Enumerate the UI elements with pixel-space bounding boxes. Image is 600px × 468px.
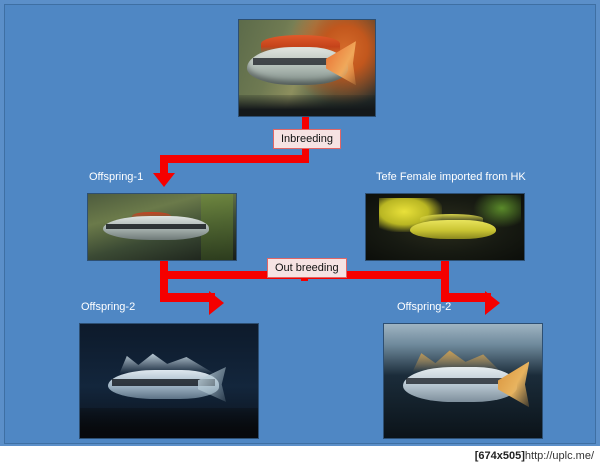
parent-photo-substrate — [239, 95, 375, 116]
photo-offspring-2-left — [79, 323, 259, 439]
photo-offspring-1 — [87, 193, 237, 261]
diagram-canvas: Inbreeding Out breeding Offspring-1 Tefe… — [4, 4, 596, 444]
tefe-fish-body — [410, 220, 495, 238]
callout-inbreeding: Inbreeding — [273, 129, 341, 149]
arrowhead-to-offspring-2-right — [485, 291, 500, 315]
screenshot-root: Inbreeding Out breeding Offspring-1 Tefe… — [0, 0, 600, 468]
arrow-inbreeding-horizontal — [160, 155, 309, 163]
callout-outbreeding: Out breeding — [267, 258, 347, 278]
label-offspring-2-left: Offspring-2 — [81, 301, 135, 314]
photo-parent-fish — [238, 19, 376, 117]
footer-source-url: http://uplc.me/ — [525, 450, 594, 462]
label-offspring-1: Offspring-1 — [89, 171, 143, 184]
photo-tefe-female — [365, 193, 525, 261]
label-offspring-2-right: Offspring-2 — [397, 301, 451, 314]
offspring2right-fish-lateral-stripe — [406, 378, 507, 385]
footer-bar: [674x505]http://uplc.me/ — [0, 446, 600, 468]
offspring1-fish-lateral-stripe — [106, 224, 207, 229]
arrowhead-to-offspring-1 — [153, 173, 175, 187]
footer-dimensions: [674x505] — [475, 450, 525, 462]
label-tefe-female: Tefe Female imported from HK — [376, 171, 526, 184]
footer-caption: [674x505]http://uplc.me/ — [475, 450, 594, 462]
photo-offspring-2-right — [383, 323, 543, 439]
arrowhead-to-offspring-2-left — [209, 291, 224, 315]
arrow-offspring2-left-horizontal — [160, 293, 215, 302]
offspring2left-photo-substrate — [80, 408, 258, 438]
